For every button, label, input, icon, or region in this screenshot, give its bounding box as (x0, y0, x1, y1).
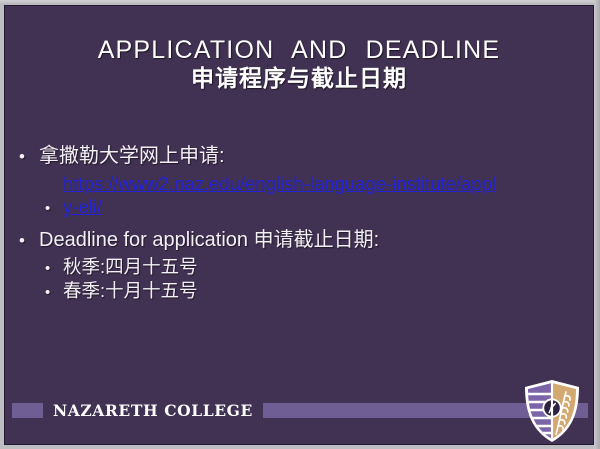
bullet-marker-icon: • (45, 285, 63, 300)
bullet-item-apply-online: • 拿撒勒大学网上申请: (19, 143, 579, 171)
slide-canvas: APPLICATION AND DEADLINE 申请程序与截止日期 • 拿撒勒… (4, 5, 594, 445)
slide-title-english: APPLICATION AND DEADLINE (5, 36, 593, 64)
bullet-item-deadline: • Deadline for application 申请截止日期: (19, 227, 579, 255)
bullet-marker-icon: • (19, 232, 39, 249)
bullet-text: Deadline for application 申请截止日期: (39, 227, 579, 255)
presentation-window: APPLICATION AND DEADLINE 申请程序与截止日期 • 拿撒勒… (0, 0, 600, 449)
bullet-marker-icon: • (45, 201, 63, 216)
bullet-text: 拿撒勒大学网上申请: (39, 143, 579, 171)
nazareth-college-wordmark: NAZARETH COLLEGE (53, 401, 253, 420)
bullet-item-spring-deadline: • 春季:十月十五号 (19, 279, 579, 303)
bullet-item-fall-deadline: • 秋季:四月十五号 (19, 255, 579, 279)
bullet-text: 秋季:四月十五号 (63, 255, 579, 279)
bullet-text: 春季:十月十五号 (63, 279, 579, 303)
bullet-item-apply-url[interactable]: • https://www2.naz.edu/english-language-… (19, 173, 579, 219)
bullet-marker-icon: • (45, 261, 63, 276)
footer-wordmark-block: NAZARETH COLLEGE (43, 395, 263, 425)
window-chrome-right-edge (594, 0, 600, 449)
apply-eli-link[interactable]: https://www2.naz.edu/english-language-in… (63, 173, 503, 219)
body-spacer (19, 219, 579, 227)
nazareth-shield-logo-icon (521, 379, 583, 445)
slide-title-chinese: 申请程序与截止日期 (5, 64, 593, 94)
slide-title: APPLICATION AND DEADLINE 申请程序与截止日期 (5, 36, 593, 94)
slide-body: • 拿撒勒大学网上申请: • https://www2.naz.edu/engl… (19, 143, 579, 303)
bullet-marker-icon: • (19, 148, 39, 165)
